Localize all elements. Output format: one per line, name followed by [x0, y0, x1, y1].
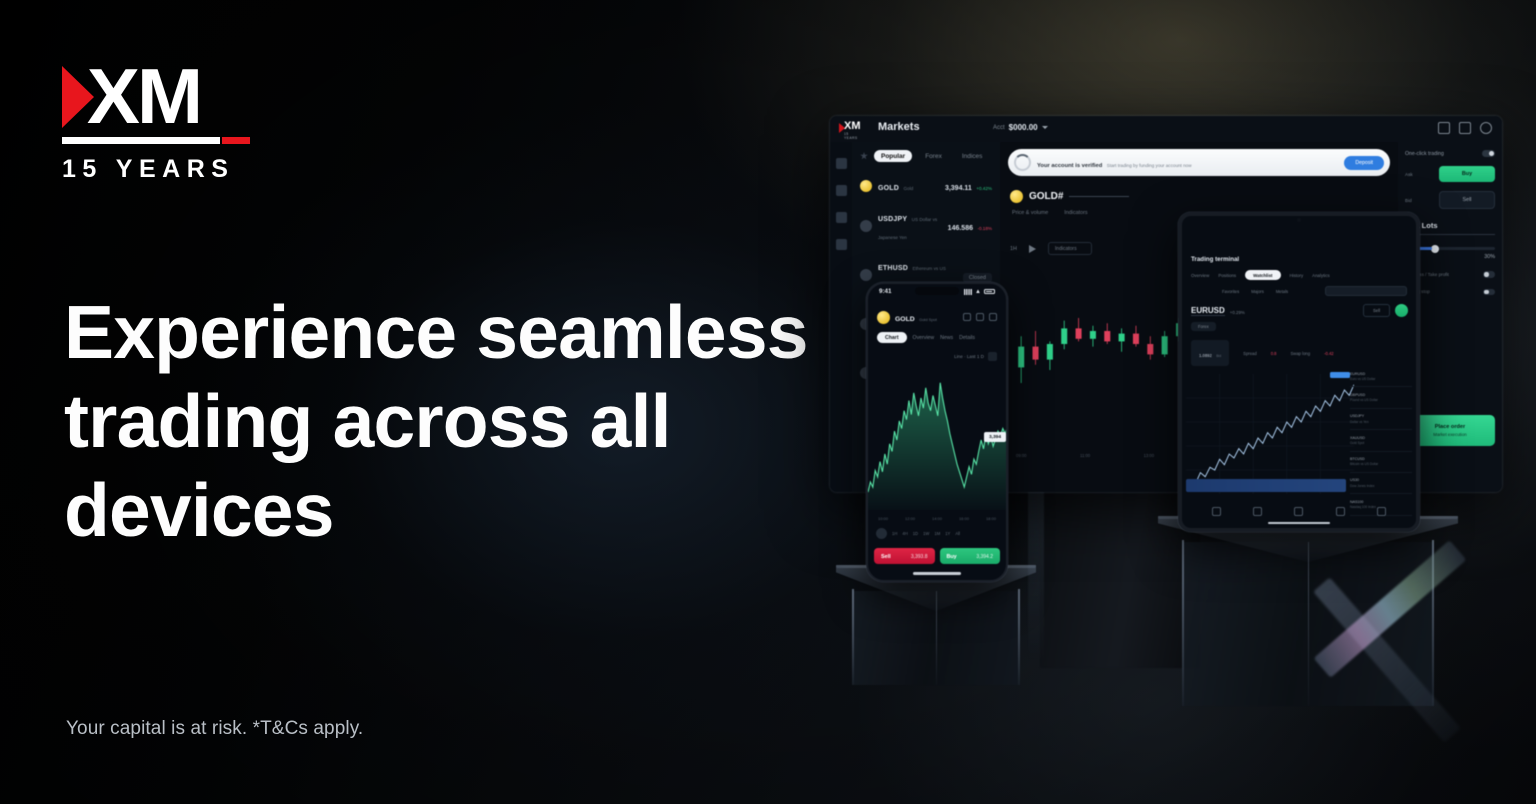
phone-timeframe-buttons[interactable]: 1H 4H 1D 1W 1M 1Y All	[876, 528, 998, 539]
instrument-change: +0.42%	[976, 186, 992, 191]
deposit-button[interactable]: Deposit	[1344, 156, 1384, 170]
tablet-instrument-list[interactable]: EURUSDEuro vs US Dollar GBPUSDPound vs U…	[1350, 366, 1412, 516]
instrument-symbol: USDJPY	[878, 216, 907, 223]
sell-button[interactable]: Sell	[1439, 191, 1495, 209]
indicator-search[interactable]: Indicators	[1048, 242, 1092, 255]
buy-button[interactable]: Buy	[1439, 166, 1495, 182]
alert-icon[interactable]	[963, 313, 971, 321]
sell-label: Sell	[881, 554, 891, 560]
account-selector[interactable]: Acct $000.00	[993, 123, 1048, 132]
chart-type-label[interactable]: Line · Last 1 D	[954, 354, 984, 359]
mobile-phone-screen: 9:41 ▲ GOLD Gold Spot	[866, 282, 1008, 582]
bell-icon[interactable]	[1438, 122, 1450, 134]
tab-overview[interactable]: Overview	[913, 335, 935, 341]
chart-symbol-header: GOLD#	[1010, 190, 1129, 203]
buy-row[interactable]: Ask Buy	[1405, 166, 1495, 182]
tablet-filter-row[interactable]: Favorites Majors Metals	[1222, 286, 1407, 296]
swap-label: Swap long	[1291, 351, 1311, 356]
tab-news[interactable]: News	[940, 335, 953, 341]
filter-favorites[interactable]: Favorites	[1222, 289, 1239, 294]
tab-chart[interactable]: Chart	[877, 332, 907, 343]
list-item[interactable]: USDJPYDollar vs Yen	[1350, 409, 1412, 430]
tablet-symbol-header: EURUSD +0.29%	[1191, 306, 1245, 316]
tablet-camera-icon	[1297, 218, 1301, 222]
ask-label: Ask	[1405, 172, 1433, 177]
portfolio-icon[interactable]	[1336, 507, 1345, 516]
star-icon[interactable]	[860, 152, 868, 160]
spread-label: Spread	[1243, 351, 1257, 356]
wallet-icon[interactable]	[836, 239, 847, 250]
device-cluster: XM 15 YEARS Markets Acct $000.00	[0, 0, 1536, 804]
settings-icon[interactable]	[988, 352, 997, 361]
gold-icon	[1010, 190, 1023, 203]
list-item[interactable]: EURUSDEuro vs US Dollar	[1350, 366, 1412, 387]
flag-icon	[860, 220, 872, 232]
chevron-down-icon	[1042, 126, 1048, 129]
avatar-icon[interactable]	[1480, 122, 1492, 134]
table-row[interactable]: USDJPY US Dollar vs Japanese Yen 146.586…	[860, 201, 992, 250]
instrument-change: -0.18%	[977, 226, 992, 231]
spread-value: 0.8	[1271, 351, 1277, 356]
loading-spinner-icon	[1014, 154, 1031, 171]
status-time: 9:41	[879, 288, 891, 295]
timeframe-selector[interactable]: 1H	[1010, 246, 1017, 252]
trade-icon[interactable]	[836, 212, 847, 223]
instrument-price: 146.586	[948, 225, 973, 232]
phone-price-tag: 3,394	[984, 432, 1006, 442]
banner-title: Your account is verified	[1037, 163, 1102, 169]
chart-symbol-name: GOLD#	[1029, 191, 1063, 202]
sell-button[interactable]: Sell	[1363, 304, 1390, 317]
tablet-actions[interactable]: Sell	[1363, 304, 1408, 317]
tab-analytics[interactable]: Analytics	[1312, 273, 1330, 278]
tablet-line-chart	[1186, 374, 1354, 494]
desktop-xm-logo-icon: XM 15 YEARS	[839, 121, 863, 136]
one-click-toggle[interactable]	[1482, 150, 1495, 157]
trade-icon[interactable]	[1294, 507, 1303, 516]
table-row[interactable]: GOLD Gold 3,394.11 +0.42%	[860, 170, 992, 201]
star-icon[interactable]	[976, 313, 984, 321]
tablet-symbol-name: EURUSD	[1191, 306, 1225, 316]
more-icon[interactable]	[989, 313, 997, 321]
phone-time-axis: 10:00 12:00 14:00 16:00 18:00	[878, 516, 996, 521]
instrument-symbol: GOLD	[878, 185, 899, 192]
desktop-top-icons[interactable]	[1438, 122, 1492, 134]
tablet-tabs[interactable]: Overview Positions Watchlist History Ana…	[1191, 270, 1407, 280]
phone-pedestal	[836, 565, 1036, 685]
sell-price: 3,393.8	[911, 554, 928, 560]
buy-round-button[interactable]	[1395, 304, 1408, 317]
battery-icon	[984, 289, 995, 295]
bid-label: Bid	[1405, 198, 1433, 203]
home-icon[interactable]	[1212, 507, 1221, 516]
sell-button[interactable]: Sell 3,393.8	[874, 548, 935, 564]
trailing-stop-toggle[interactable]	[1483, 289, 1495, 296]
gold-icon	[877, 311, 890, 324]
tablet-page-title: Trading terminal	[1191, 256, 1239, 263]
filter-metals[interactable]: Metals	[1276, 289, 1288, 294]
tab-watchlist[interactable]: Watchlist	[1245, 270, 1280, 280]
tab-details[interactable]: Details	[959, 335, 975, 341]
instrument-symbol: ETHUSD	[878, 265, 908, 272]
list-item[interactable]: GBPUSDPound vs US Dollar	[1350, 387, 1412, 408]
tab-indices[interactable]: Indices	[955, 150, 990, 162]
tablet-price-tag	[1330, 372, 1350, 378]
phone-symbol-name: GOLD	[895, 316, 915, 323]
tablet-category-pill: Forex	[1191, 322, 1216, 331]
chart-icon[interactable]	[836, 185, 847, 196]
bid-box: 1.0892 Bid	[1191, 340, 1229, 366]
globe-icon[interactable]	[876, 528, 887, 539]
one-click-label: One-click trading	[1405, 151, 1444, 157]
chart-submeta: Price & volume Indicators	[1012, 210, 1088, 216]
buy-label: Buy	[947, 554, 957, 560]
tab-popular[interactable]: Popular	[874, 150, 912, 162]
buy-price: 3,394.2	[976, 554, 993, 560]
play-icon[interactable]	[1029, 245, 1036, 253]
grid-icon[interactable]	[836, 158, 847, 169]
list-item[interactable]: BTCUSDBitcoin vs US Dollar	[1350, 452, 1412, 473]
tablet-bottom-nav[interactable]	[1182, 507, 1416, 516]
phone-home-indicator	[913, 572, 961, 575]
markets-tabs[interactable]: Popular Forex Indices	[860, 150, 992, 162]
chat-icon[interactable]	[1459, 122, 1471, 134]
signal-icon	[964, 289, 972, 295]
list-item[interactable]: US30Dow Jones Index	[1350, 473, 1412, 494]
profile-icon[interactable]	[1377, 507, 1386, 516]
promo-banner: XM 15 YEARS Experience seamless trading …	[0, 0, 1536, 804]
tablet-info-row: 1.0892 Bid Spread 0.8 Swap long -0.42	[1191, 340, 1408, 366]
tab-overview[interactable]: Overview	[1191, 273, 1209, 278]
status-badge: Closed	[963, 273, 992, 283]
chart-icon	[860, 269, 872, 281]
one-click-trading-row[interactable]: One-click trading	[1405, 150, 1495, 157]
list-item[interactable]: XAUUSDGold Spot	[1350, 430, 1412, 451]
verification-banner: Your account is verified Start trading b…	[1008, 149, 1390, 176]
chart-toolbar[interactable]: 1H Indicators	[1010, 242, 1092, 255]
price-placeholder-line	[1069, 196, 1129, 197]
tab-positions[interactable]: Positions	[1218, 273, 1236, 278]
sell-row[interactable]: Bid Sell	[1405, 191, 1495, 209]
tab-history[interactable]: History	[1290, 273, 1304, 278]
phone-symbol-desc: Gold Spot	[919, 317, 937, 322]
filter-majors[interactable]: Majors	[1251, 289, 1264, 294]
phone-trade-buttons[interactable]: Sell 3,393.8 Buy 3,394.2	[874, 548, 1000, 564]
desktop-left-rail[interactable]	[830, 142, 852, 492]
markets-icon[interactable]	[1253, 507, 1262, 516]
instrument-price: 3,394.11	[945, 185, 972, 192]
tablet-range-selector[interactable]	[1186, 479, 1346, 492]
tab-forex[interactable]: Forex	[918, 150, 949, 162]
phone-tabs[interactable]: Chart Overview News Details	[877, 332, 975, 343]
instrument-desc: Gold	[903, 186, 913, 191]
phone-symbol-header: GOLD Gold Spot	[877, 308, 997, 326]
search-input[interactable]	[1325, 286, 1407, 296]
wifi-icon: ▲	[975, 289, 981, 295]
tablet-home-indicator	[1268, 522, 1330, 524]
desktop-page-title: Markets	[878, 121, 920, 133]
gold-icon	[860, 180, 872, 192]
phone-chart-controls[interactable]: Line · Last 1 D	[954, 352, 997, 361]
phone-notch	[915, 287, 959, 295]
tablet-symbol-change: +0.29%	[1230, 310, 1245, 315]
buy-button[interactable]: Buy 3,394.2	[940, 548, 1001, 564]
tablet-screen: Trading terminal Overview Positions Watc…	[1178, 212, 1420, 532]
swap-value: -0.42	[1324, 351, 1334, 356]
sl-tp-toggle[interactable]	[1483, 271, 1495, 278]
desktop-topbar: XM 15 YEARS Markets Acct $000.00	[830, 116, 1502, 142]
banner-subtitle: Start trading by funding your account no…	[1107, 163, 1192, 168]
